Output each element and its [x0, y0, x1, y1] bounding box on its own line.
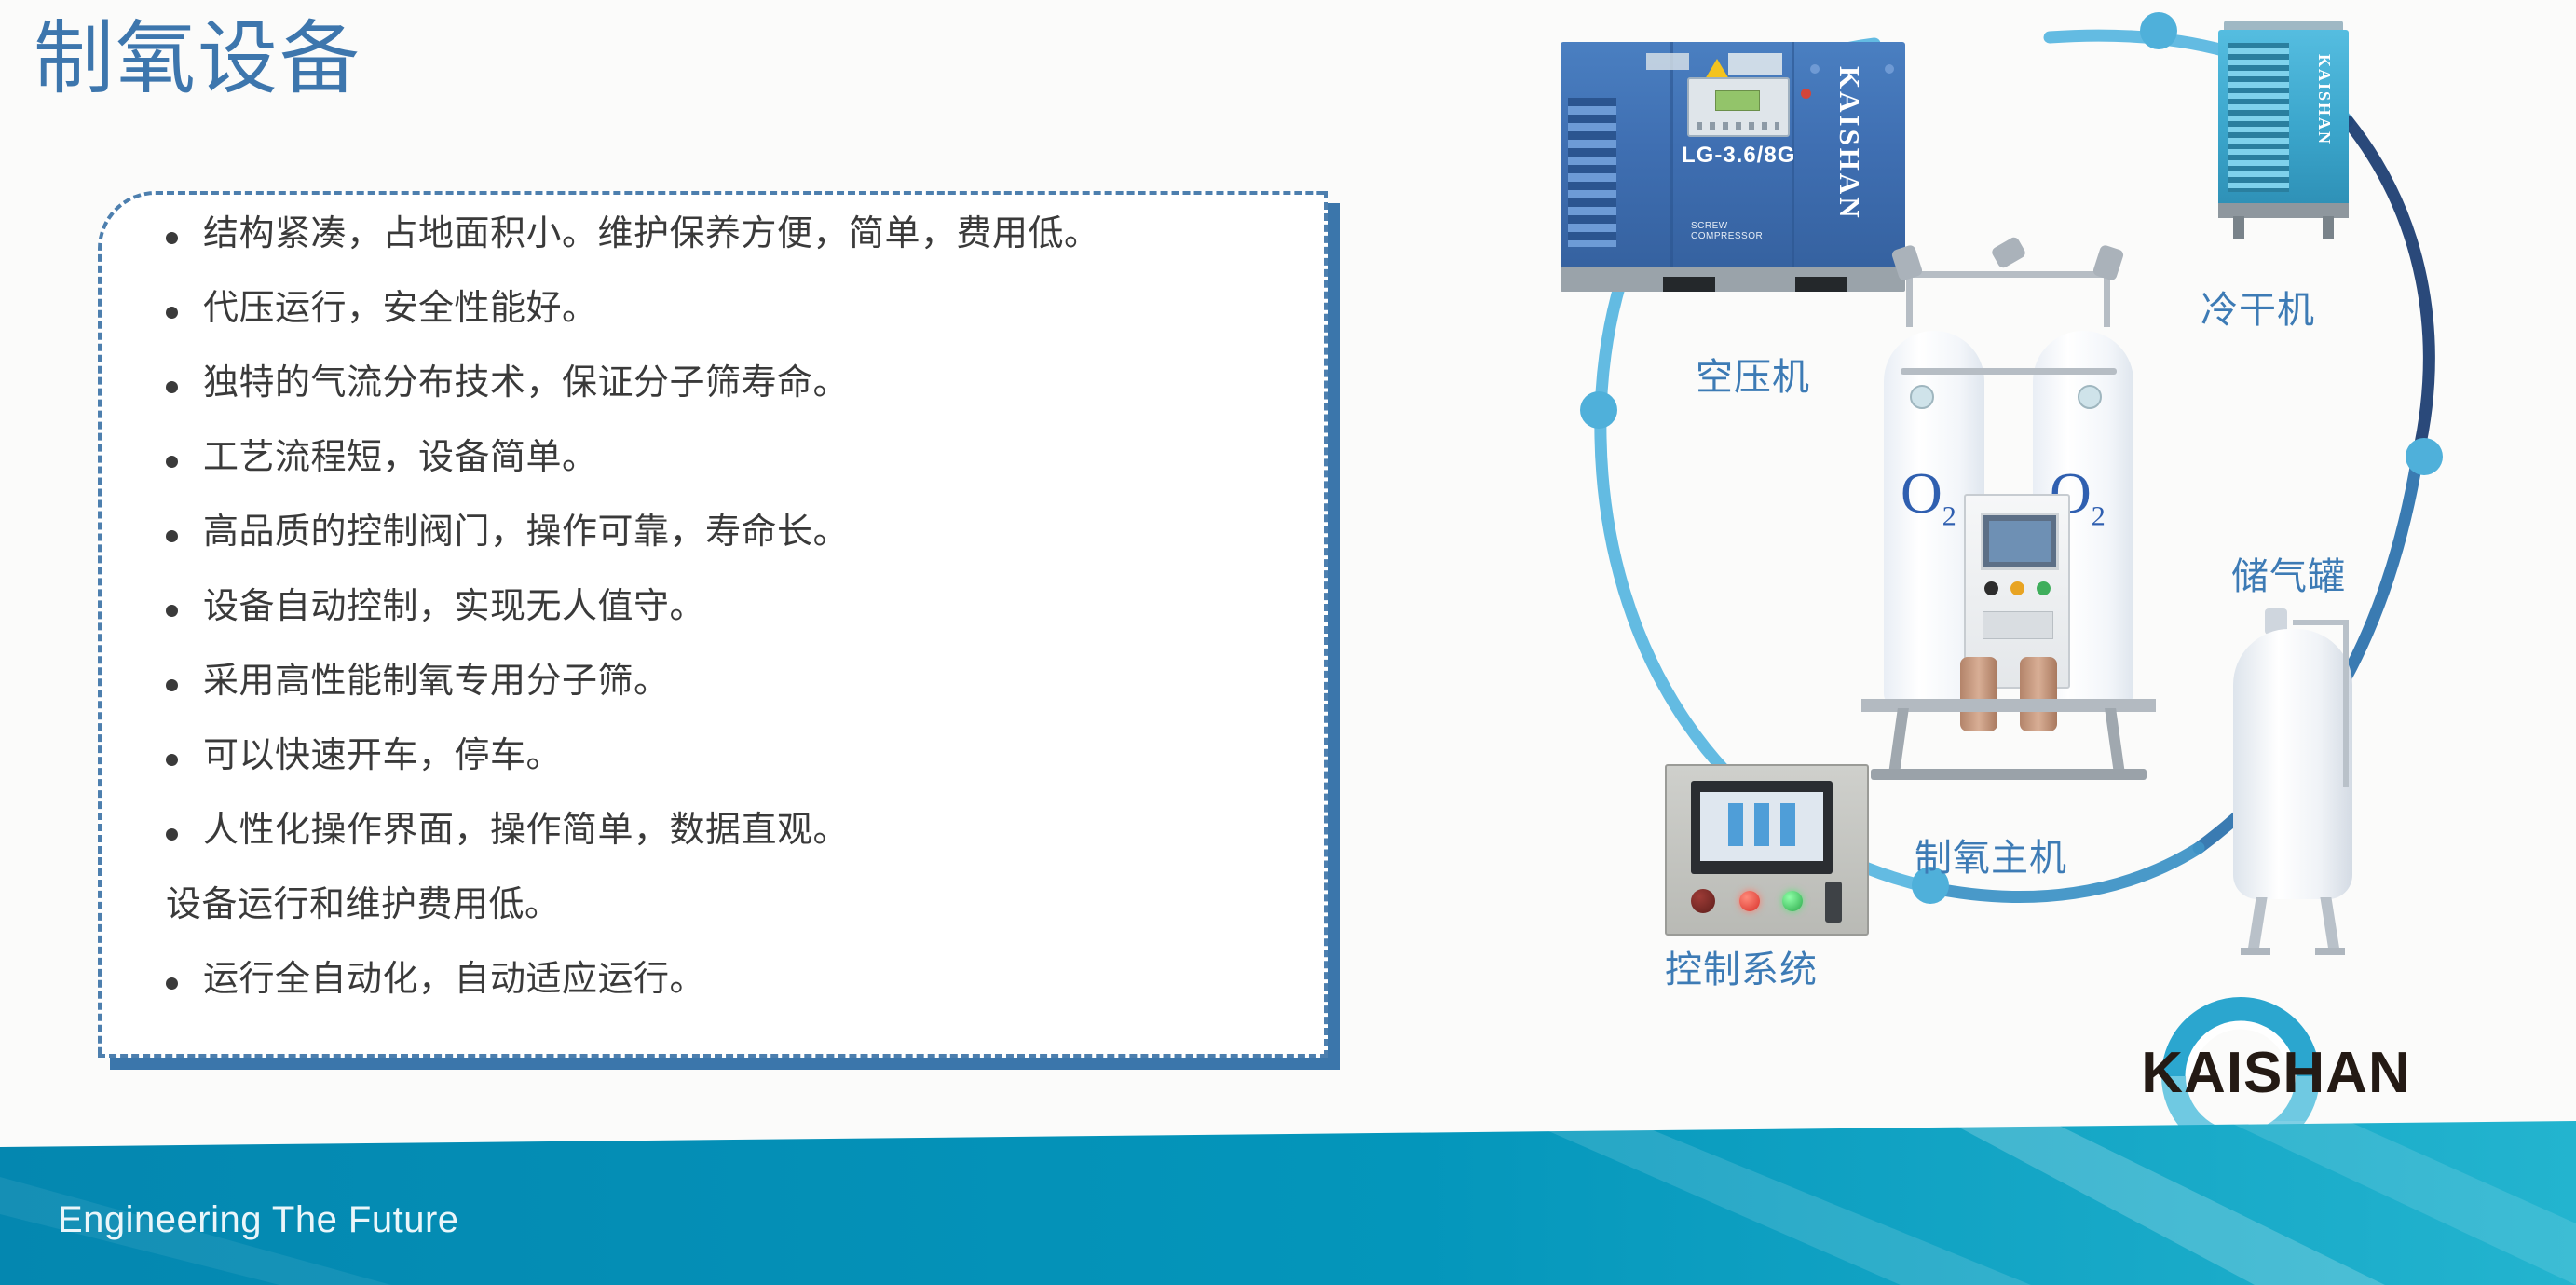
host-button-amber	[2010, 581, 2024, 595]
label-oxygen-generator: 制氧主机	[1915, 827, 2067, 882]
o2-marking-left: O2	[1901, 461, 1956, 532]
host-valve-right	[2092, 244, 2124, 281]
dryer-leg-right	[2323, 216, 2334, 239]
feature-text: 可以快速开车，停车。	[203, 736, 562, 775]
compressor-brand-label: KAISHAN	[1833, 66, 1866, 221]
list-item-plain: 设备运行和维护费用低。	[149, 887, 1295, 923]
list-item: 代压运行，安全性能好。	[149, 291, 1295, 326]
flow-node-tank	[2406, 438, 2443, 475]
feature-text: 运行全自动化，自动适应运行。	[203, 960, 705, 999]
indicator-lamp-red	[1739, 891, 1760, 911]
compressor-foot-left	[1663, 277, 1715, 292]
tank-body	[2233, 629, 2352, 899]
feature-text: 代压运行，安全性能好。	[203, 289, 598, 328]
refrigerated-dryer-image: KAISHAN	[2205, 21, 2373, 272]
list-item: 可以快速开车，停车。	[149, 738, 1295, 773]
dryer-grille	[2228, 43, 2289, 192]
host-cylinder-right	[2020, 657, 2057, 731]
compressor-sticker-left	[1646, 53, 1689, 70]
feature-text: 人性化操作界面，操作简单，数据直观。	[203, 811, 849, 850]
compressor-screw-dot	[1810, 64, 1820, 74]
list-item: 设备自动控制，实现无人值守。	[149, 589, 1295, 624]
slide-canvas: 制氧设备 结构紧凑，占地面积小。维护保养方便，简单，费用低。 代压运行，安全性能…	[0, 0, 2576, 1285]
hmi-bar-3	[1780, 803, 1795, 846]
compressor-type-line1: SCREW	[1691, 221, 1763, 231]
emergency-stop-knob	[1691, 889, 1715, 913]
host-button-green	[2037, 581, 2051, 595]
host-leg-right	[2105, 708, 2125, 773]
hmi-bar-1	[1728, 803, 1743, 846]
host-cylinder-left	[1960, 657, 1997, 731]
page-title: 制氧设备	[34, 13, 361, 105]
compressor-base	[1561, 267, 1905, 292]
list-item: 高品质的控制阀门，操作可靠，寿命长。	[149, 514, 1295, 550]
pressure-gauge-left	[1910, 385, 1934, 409]
tank-pipe-horizontal	[2293, 620, 2349, 625]
hmi-bar-2	[1754, 803, 1769, 846]
warning-triangle-icon	[1705, 59, 1729, 79]
host-valve-center	[1990, 236, 2027, 270]
compressor-type-line2: COMPRESSOR	[1691, 231, 1763, 241]
compressor-buttons	[1697, 122, 1779, 130]
svg-text:KAISHAN: KAISHAN	[2141, 1041, 2410, 1105]
indicator-lamp-green	[1782, 891, 1803, 911]
flow-node-left	[1580, 391, 1617, 429]
feature-text: 工艺流程短，设备简单。	[203, 438, 598, 477]
pressure-gauge-right	[2078, 385, 2102, 409]
dryer-brand-label: KAISHAN	[2314, 54, 2334, 145]
control-cabinet-body	[1665, 764, 1869, 936]
host-nameplate	[1983, 611, 2053, 639]
feature-text: 设备自动控制，实现无人值守。	[203, 587, 705, 626]
compressor-display	[1715, 90, 1760, 111]
compressor-control-panel	[1687, 77, 1790, 137]
feature-text: 结构紧凑，占地面积小。维护保养方便，简单，费用低。	[203, 214, 1100, 253]
host-hmi-screen	[1981, 513, 2059, 570]
label-air-compressor: 空压机	[1696, 347, 1810, 401]
footer-tagline: Engineering The Future	[58, 1199, 459, 1241]
o2-sub-left: 2	[1942, 500, 1956, 531]
list-item: 人性化操作界面，操作简单，数据直观。	[149, 813, 1295, 848]
control-hmi-screen	[1691, 781, 1833, 874]
label-storage-tank: 储气罐	[2231, 546, 2346, 600]
tank-foot-left	[2241, 948, 2270, 955]
feature-text: 独特的气流分布技术，保证分子筛寿命。	[203, 363, 849, 403]
tank-foot-right	[2315, 948, 2345, 955]
tank-pipe-vertical	[2343, 620, 2349, 787]
compressor-louver	[1568, 98, 1616, 247]
tank-leg-left	[2247, 897, 2267, 951]
oxygen-generator-image: O2 O2	[1856, 228, 2163, 825]
compressor-foot-right	[1795, 277, 1847, 292]
flow-node-dryer	[2140, 12, 2177, 49]
list-item: 工艺流程短，设备简单。	[149, 440, 1295, 475]
list-item: 采用高性能制氧专用分子筛。	[149, 663, 1295, 699]
dryer-body: KAISHAN	[2218, 30, 2349, 207]
control-switch	[1825, 882, 1842, 923]
host-pipe-mid	[1901, 368, 2117, 375]
control-hmi-screen-inner	[1700, 792, 1823, 861]
footer-banner: Engineering The Future	[0, 1121, 2576, 1285]
o2-letter-left: O	[1901, 462, 1942, 526]
compressor-sticker-right	[1728, 53, 1782, 75]
list-item: 运行全自动化，自动适应运行。	[149, 962, 1295, 997]
host-hmi-screen-inner	[1989, 521, 2051, 562]
host-leg-left	[1888, 708, 1909, 773]
host-pipe-vertical-left	[1906, 271, 1913, 327]
tank-leg-right	[2320, 897, 2339, 951]
host-button-black	[1984, 581, 1998, 595]
feature-text: 高品质的控制阀门，操作可靠，寿命长。	[203, 513, 849, 552]
compressor-screw-dot-2	[1885, 64, 1894, 74]
feature-list: 结构紧凑，占地面积小。维护保养方便，简单，费用低。 代压运行，安全性能好。 独特…	[149, 216, 1295, 1036]
dryer-leg-left	[2233, 216, 2244, 239]
list-item: 独特的气流分布技术，保证分子筛寿命。	[149, 365, 1295, 401]
o2-sub-right: 2	[2092, 500, 2106, 531]
list-item: 结构紧凑，占地面积小。维护保养方便，简单，费用低。	[149, 216, 1295, 252]
compressor-type-label: SCREW COMPRESSOR	[1691, 221, 1763, 241]
process-flow-diagram: LG-3.6/8G SCREW COMPRESSOR KAISHAN 空压机 K…	[1528, 0, 2576, 1109]
air-storage-tank-image	[2213, 601, 2390, 974]
compressor-panel-seam	[1670, 42, 1673, 275]
feature-text: 设备运行和维护费用低。	[166, 885, 561, 924]
control-cabinet-image	[1665, 764, 1879, 946]
label-dryer: 冷干机	[2201, 280, 2315, 334]
compressor-model-label: LG-3.6/8G	[1682, 143, 1795, 169]
emergency-stop-icon	[1801, 89, 1811, 99]
host-base-bar	[1871, 769, 2147, 780]
feature-text: 采用高性能制氧专用分子筛。	[203, 662, 670, 701]
host-pipe-top	[1901, 271, 2117, 278]
label-control-system: 控制系统	[1665, 939, 1818, 993]
